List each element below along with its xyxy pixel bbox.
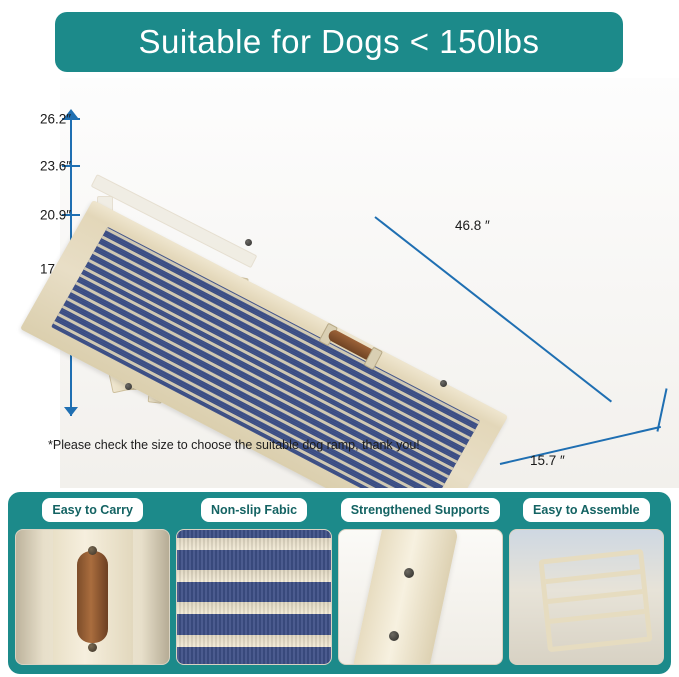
product-infographic: Suitable for Dogs < 150lbs 26.2″ 23.6″ 2… <box>0 0 679 677</box>
header-banner: Suitable for Dogs < 150lbs <box>55 12 623 72</box>
feature-label: Easy to Assemble <box>521 496 652 524</box>
ramp-frame <box>539 549 653 653</box>
feature-card-easy-to-carry: Easy to Carry <box>16 498 169 668</box>
carpet-texture <box>177 530 330 664</box>
width-dimension-cap <box>656 388 667 431</box>
scale-label-3: 20.9″ <box>40 208 71 223</box>
length-dimension-label: 46.8 ″ <box>455 218 490 233</box>
frame-rung <box>546 569 641 584</box>
screw <box>88 643 97 652</box>
screw <box>125 383 132 390</box>
feature-photo-assembly <box>509 529 664 665</box>
feature-label: Non-slip Fabic <box>199 496 309 524</box>
feature-card-non-slip-fabric: Non-slip Fabic <box>177 498 330 668</box>
feature-card-list: Easy to Carry Non-slip Fabic <box>8 492 671 674</box>
feature-card-easy-to-assemble: Easy to Assemble <box>510 498 663 668</box>
size-note: *Please check the size to choose the sui… <box>48 438 420 452</box>
screw <box>440 380 447 387</box>
width-dimension-label: 15.7 ″ <box>530 453 565 468</box>
feature-card-strengthened-supports: Strengthened Supports <box>339 498 502 668</box>
screw <box>389 631 399 641</box>
handle-strap <box>77 551 108 642</box>
feature-label: Strengthened Supports <box>339 496 502 524</box>
screw <box>245 239 252 246</box>
scale-arrow-down-icon <box>64 407 78 416</box>
scale-label-1: 26.2″ <box>40 112 71 127</box>
feature-strip: Easy to Carry Non-slip Fabic <box>0 470 679 677</box>
feature-photo-carpet <box>176 529 331 665</box>
feature-label: Easy to Carry <box>40 496 145 524</box>
frame-rung <box>548 589 643 604</box>
screw <box>404 568 414 578</box>
feature-photo-handle <box>15 529 170 665</box>
feature-photo-support <box>338 529 503 665</box>
width-dimension-line <box>500 426 661 465</box>
scale-label-2: 23.6″ <box>40 159 71 174</box>
dog-ramp-illustration: 46.8 ″ 15.7 ″ <box>85 78 679 488</box>
frame-rung <box>550 609 645 624</box>
page-title: Suitable for Dogs < 150lbs <box>139 23 540 61</box>
support-bar <box>352 529 459 665</box>
main-product-photo: 26.2″ 23.6″ 20.9″ 17.9″ 14.8″ <box>0 78 679 488</box>
